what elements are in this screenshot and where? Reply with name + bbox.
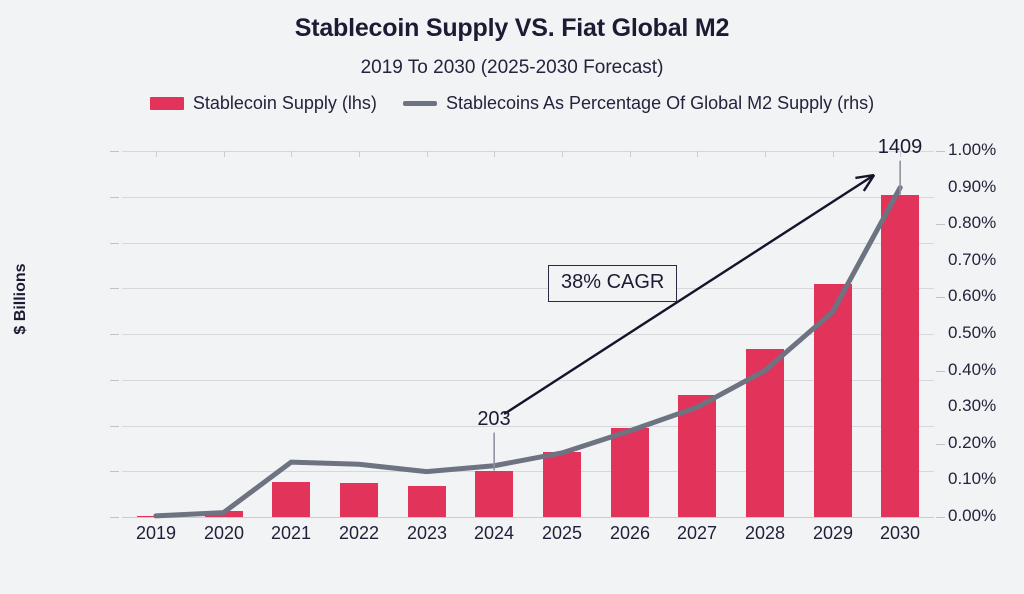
x-axis-tickmark <box>833 151 834 157</box>
bar-2023[interactable] <box>408 486 446 517</box>
x-axis-tickmark <box>562 151 563 157</box>
line-series-stablecoin-percentage <box>156 188 900 516</box>
chart-container: Stablecoin Supply VS. Fiat Global M2 201… <box>0 0 1024 594</box>
gridline <box>122 334 934 335</box>
x-axis-tick-label-2025: 2025 <box>528 523 596 544</box>
x-axis-tick-label-2023: 2023 <box>393 523 461 544</box>
x-axis-tickmark <box>224 151 225 157</box>
chart-legend: Stablecoin Supply (lhs) Stablecoins As P… <box>0 93 1024 114</box>
y-axis-right-tickmark <box>936 444 945 445</box>
y-axis-right-tick-label: 0.70% <box>948 250 1024 270</box>
y-axis-right-tickmark <box>936 297 945 298</box>
legend-label-stablecoin-supply: Stablecoin Supply (lhs) <box>193 93 377 114</box>
x-axis-tick-label-2022: 2022 <box>325 523 393 544</box>
x-axis-tick-label-2029: 2029 <box>799 523 867 544</box>
x-axis-tickmark <box>630 151 631 157</box>
y-axis-right-tickmark <box>936 224 945 225</box>
y-axis-left-tickmark <box>110 197 119 198</box>
y-axis-right-tick-label: 0.50% <box>948 323 1024 343</box>
x-axis-tick-label-2021: 2021 <box>257 523 325 544</box>
bar-2024[interactable] <box>475 471 513 517</box>
y-axis-left-tickmark <box>110 288 119 289</box>
x-axis-tickmark <box>359 151 360 157</box>
chart-subtitle: 2019 To 2030 (2025-2030 Forecast) <box>0 57 1024 79</box>
x-axis-tick-label-2028: 2028 <box>731 523 799 544</box>
page-title: Stablecoin Supply VS. Fiat Global M2 <box>0 14 1024 43</box>
bar-2020[interactable] <box>205 511 243 517</box>
data-label-2024: 203 <box>449 408 539 431</box>
y-axis-left-tickmark <box>110 471 119 472</box>
bar-2028[interactable] <box>746 349 784 517</box>
legend-item-percentage-of-global-m2[interactable]: Stablecoins As Percentage Of Global M2 S… <box>403 93 874 114</box>
bar-2030[interactable] <box>881 195 919 517</box>
y-axis-right-tick-label: 0.40% <box>948 360 1024 380</box>
bar-2027[interactable] <box>678 395 716 517</box>
x-axis-tick-label-2026: 2026 <box>596 523 664 544</box>
cagr-arrowhead-2 <box>855 175 874 178</box>
x-axis-tickmark <box>765 151 766 157</box>
y-axis-left-tickmark <box>110 243 119 244</box>
legend-item-stablecoin-supply[interactable]: Stablecoin Supply (lhs) <box>150 93 377 114</box>
bar-2019[interactable] <box>137 516 175 517</box>
gridline <box>122 243 934 244</box>
x-axis-tick-label-2019: 2019 <box>122 523 190 544</box>
y-axis-left-tickmark <box>110 151 119 152</box>
gridline <box>122 380 934 381</box>
y-axis-left-title: $ Billions <box>12 244 30 354</box>
y-axis-right-tick-label: 0.20% <box>948 433 1024 453</box>
plot-area: $1,600$1,400$1,200$1,000$800$600$400$200… <box>122 151 934 517</box>
data-label-2030: 1409 <box>855 136 945 159</box>
line-swatch-icon <box>403 101 437 106</box>
y-axis-right-tick-label: 0.90% <box>948 177 1024 197</box>
x-axis-tick-label-2030: 2030 <box>866 523 934 544</box>
x-axis-tick-label-2024: 2024 <box>460 523 528 544</box>
x-axis-tick-label-2020: 2020 <box>190 523 258 544</box>
gridline <box>122 151 934 152</box>
gridline <box>122 288 934 289</box>
y-axis-left-tickmark <box>110 380 119 381</box>
y-axis-right-tickmark <box>936 371 945 372</box>
x-axis-tickmark <box>494 151 495 157</box>
y-axis-right-tickmark <box>936 517 945 518</box>
gridline <box>122 471 934 472</box>
bar-2025[interactable] <box>543 452 581 517</box>
y-axis-right-tick-label: 0.80% <box>948 213 1024 233</box>
y-axis-left-tickmark <box>110 517 119 518</box>
y-axis-right-tick-label: 0.10% <box>948 469 1024 489</box>
cagr-arrowhead-1 <box>864 175 874 191</box>
bar-2029[interactable] <box>814 284 852 517</box>
x-axis-tickmark <box>291 151 292 157</box>
y-axis-right-tick-label: 0.60% <box>948 286 1024 306</box>
x-axis-tickmark <box>156 151 157 157</box>
bar-2021[interactable] <box>272 482 310 517</box>
y-axis-left-tickmark <box>110 426 119 427</box>
x-axis-tickmark <box>697 151 698 157</box>
y-axis-right-tick-label: 0.00% <box>948 506 1024 526</box>
legend-label-percentage-of-global-m2: Stablecoins As Percentage Of Global M2 S… <box>446 93 874 114</box>
x-axis-tickmark <box>427 151 428 157</box>
cagr-badge: 38% CAGR <box>548 265 677 302</box>
bar-2022[interactable] <box>340 483 378 517</box>
bar-swatch-icon <box>150 97 184 110</box>
y-axis-left-tickmark <box>110 334 119 335</box>
y-axis-right-tick-label: 0.30% <box>948 396 1024 416</box>
y-axis-right-tick-label: 1.00% <box>948 140 1024 160</box>
x-axis-tick-label-2027: 2027 <box>663 523 731 544</box>
bar-2026[interactable] <box>611 428 649 517</box>
gridline <box>122 197 934 198</box>
gridline <box>122 517 934 518</box>
